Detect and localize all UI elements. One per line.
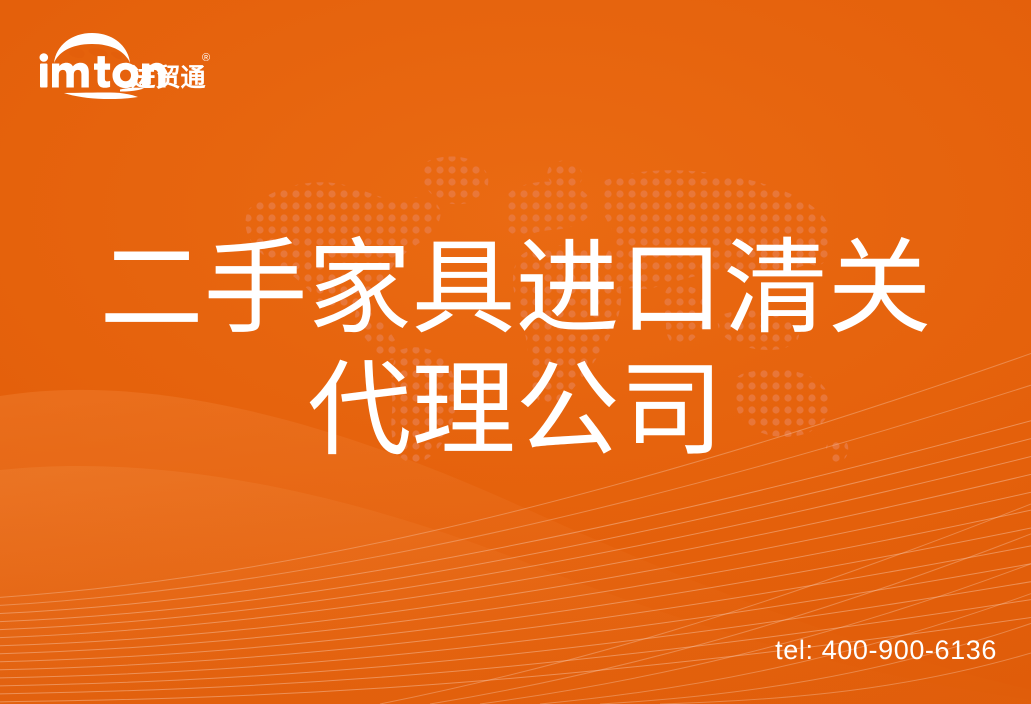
globe-icon <box>54 33 130 63</box>
contact-phone[interactable]: tel: 400-900-6136 <box>775 635 997 666</box>
promo-banner: 进贸通 ® 二手家具进口清关 代理公司 tel: 400-900-6136 <box>0 0 1031 704</box>
registered-trademark-icon: ® <box>202 52 210 64</box>
headline-line-1: 二手家具进口清关 <box>0 228 1031 350</box>
headline-line-2: 代理公司 <box>0 350 1031 472</box>
page-title: 二手家具进口清关 代理公司 <box>0 228 1031 472</box>
logo-chinese-name: 进贸通 <box>130 63 205 92</box>
brand-logo[interactable]: 进贸通 ® <box>34 27 214 99</box>
